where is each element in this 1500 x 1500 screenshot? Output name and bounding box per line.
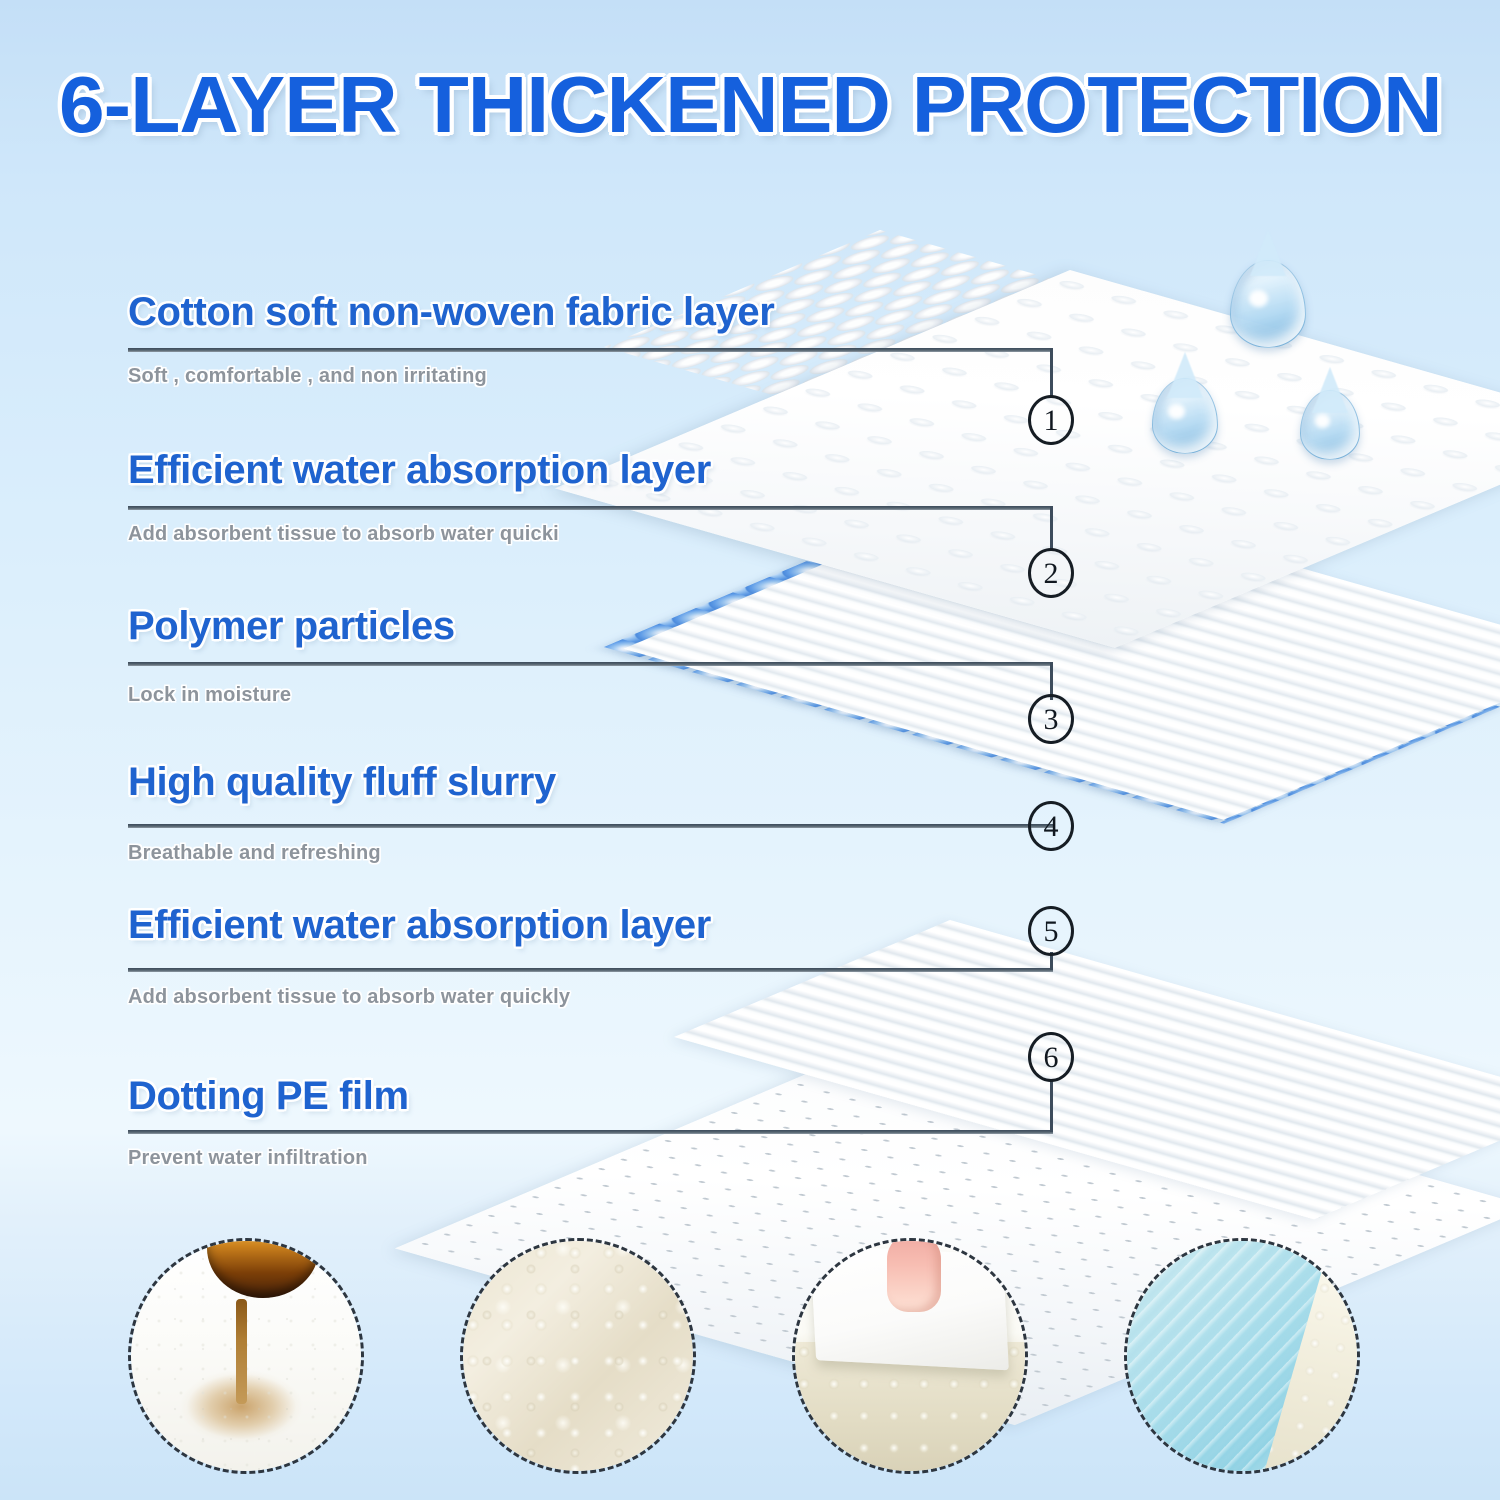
water-droplet-large-icon bbox=[1230, 260, 1306, 348]
photo-3-image bbox=[795, 1241, 1025, 1471]
title-banner: 6-LAYER THICKENED PROTECTION bbox=[0, 60, 1500, 150]
callout-5-leader-horizontal bbox=[128, 968, 1053, 972]
photo-1-liquid-stream bbox=[236, 1299, 247, 1405]
callout-2-subtitle: Add absorbent tissue to absorb water qui… bbox=[128, 523, 559, 546]
callout-3-leader-horizontal bbox=[128, 662, 1053, 666]
number-badge-6: 6 bbox=[1028, 1032, 1074, 1082]
number-badge-2: 2 bbox=[1028, 548, 1074, 598]
photo-liquid-absorption-demo bbox=[128, 1238, 364, 1474]
infographic-page: 6-LAYER THICKENED PROTECTION Cotton soft… bbox=[0, 0, 1500, 1500]
callout-6-subtitle: Prevent water infiltration bbox=[128, 1147, 368, 1170]
photo-1-image bbox=[131, 1241, 361, 1471]
callout-5-title: Efficient water absorption layer bbox=[128, 903, 711, 948]
photo-2-image bbox=[463, 1241, 693, 1471]
callout-4-title: High quality fluff slurry bbox=[128, 760, 556, 805]
number-badge-4: 4 bbox=[1028, 801, 1074, 851]
callout-4-leader-horizontal bbox=[128, 824, 1053, 828]
photo-4-image bbox=[1127, 1241, 1357, 1471]
callout-1-title: Cotton soft non-woven fabric layer bbox=[128, 290, 774, 335]
callout-1-subtitle: Soft , comfortable , and non irritating bbox=[128, 365, 487, 388]
number-badge-3: 3 bbox=[1028, 694, 1074, 744]
number-badge-5: 5 bbox=[1028, 906, 1074, 956]
callout-6-leader-horizontal bbox=[128, 1130, 1053, 1134]
callout-1-leader-horizontal bbox=[128, 348, 1053, 352]
callout-3-title: Polymer particles bbox=[128, 604, 455, 649]
photo-fluff-pulp-closeup bbox=[460, 1238, 696, 1474]
callout-6-title: Dotting PE film bbox=[128, 1074, 409, 1119]
callout-1-leader-vertical bbox=[1050, 348, 1053, 398]
photo-tissue-layer-lift-demo bbox=[792, 1238, 1028, 1474]
photo-3-finger bbox=[887, 1238, 941, 1312]
callout-2-leader-horizontal bbox=[128, 506, 1053, 510]
callout-4-subtitle: Breathable and refreshing bbox=[128, 842, 381, 865]
callout-2-leader-vertical bbox=[1050, 506, 1053, 550]
layer-stack-illustration bbox=[880, 230, 1500, 1190]
callout-2-title: Efficient water absorption layer bbox=[128, 448, 711, 493]
page-title: 6-LAYER THICKENED PROTECTION bbox=[59, 60, 1442, 150]
callout-3-subtitle: Lock in moisture bbox=[128, 684, 291, 707]
callout-5-subtitle: Add absorbent tissue to absorb water qui… bbox=[128, 986, 570, 1009]
photo-pe-film-backing-closeup bbox=[1124, 1238, 1360, 1474]
number-badge-1: 1 bbox=[1028, 395, 1074, 445]
callout-6-leader-vertical bbox=[1050, 1080, 1053, 1132]
